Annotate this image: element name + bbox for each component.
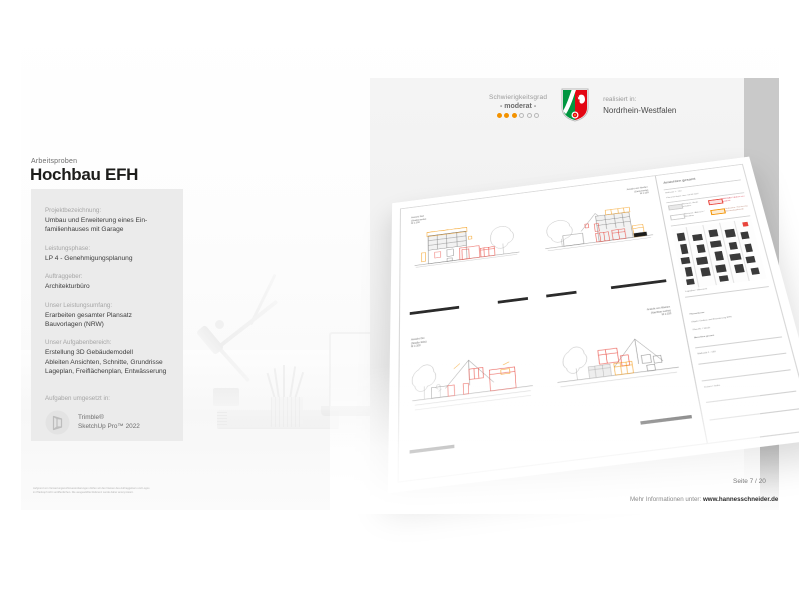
info-line: Architekturbüro — [45, 282, 169, 291]
plan-sheet-title: Ansichten gesamt — [663, 176, 696, 184]
difficulty-dot-6 — [534, 113, 539, 118]
legend-swatch-3 — [670, 214, 686, 221]
stamp-row: Datum / Index — [704, 385, 721, 390]
info-line: Lageplan, Freiflächenplan, Entwässerung — [45, 367, 169, 376]
title-bar — [497, 297, 527, 304]
elevation-quadrant-2: Ansicht von Norden (Gartenseite) M 1:100 — [528, 176, 679, 314]
difficulty-dot-3 — [512, 113, 517, 118]
nrw-coat-of-arms-icon — [561, 88, 589, 122]
elevation-quadrant-3: Ansicht Ost (Straße links) M 1:100 — [399, 315, 552, 482]
legend-swatch-2 — [708, 198, 724, 205]
slide-canvas: Schwierigkeitsgrad - moderat - — [0, 0, 799, 600]
info-heading: Auftraggeber: — [45, 272, 169, 281]
elevation-drawing-east — [408, 340, 538, 420]
page-title: Hochbau EFH — [30, 165, 138, 185]
elevation-quadrant-4: Ansicht von Westen (Nachbar rechts) M 1:… — [539, 297, 707, 463]
elevation-label: Ansicht von Westen (Nachbar rechts) M 1:… — [647, 306, 672, 319]
title-bar — [547, 291, 578, 298]
info-group-leistungsphase: Leistungsphase: LP 4 - Genehmigungsplanu… — [45, 244, 169, 263]
software-vendor: Trimble® — [78, 413, 140, 422]
difficulty-meter: Schwierigkeitsgrad - moderat - — [489, 93, 547, 118]
stamp-title: Planverfasser — [690, 312, 706, 317]
more-info: Mehr Informationen unter: www.hannesschn… — [630, 496, 778, 503]
info-group-leistungsumfang: Unser Leistungsumfang: Erarbeiten gesamt… — [45, 301, 169, 330]
title-bar — [640, 415, 692, 425]
info-line: LP 4 - Genehmigungsplanung — [45, 254, 169, 263]
difficulty-dot-4 — [519, 113, 524, 118]
plan-sheet-perspective: Ansicht Süd (Straßenseite) M 1:100 — [330, 150, 760, 510]
legend-label-3: Bestand - Abbruch / Rückbau — [684, 211, 708, 219]
legend-label-2: NEUBAU / Anbau neu geplant — [722, 196, 746, 204]
info-line: Erstellung 3D Gebäudemodell — [45, 348, 169, 357]
difficulty-label: Schwierigkeitsgrad — [489, 93, 547, 102]
elevation-label: Ansicht von Norden (Gartenseite) M 1:100 — [627, 186, 650, 197]
more-info-label: Mehr Informationen unter: — [630, 496, 701, 503]
stamp-row: Ansichten gesamt — [694, 335, 714, 341]
elevation-label: Ansicht Süd (Straßenseite) M 1:100 — [411, 215, 426, 225]
elevation-drawing-west — [549, 322, 686, 401]
info-line: Umbau und Erweiterung eines Ein- — [45, 216, 169, 225]
legend-scale: Maßstab 1 : 100 — [665, 190, 682, 195]
info-group-aufgabenbereich: Unser Aufgabenbereich: Erstellung 3D Geb… — [45, 338, 169, 376]
website-url[interactable]: www.hannesschneider.de — [703, 496, 778, 503]
stamp-row: Objekt: Umbau und Erweiterung EFH — [691, 316, 732, 324]
info-line: familienhauses mit Garage — [45, 225, 169, 234]
page-kicker: Arbeitsproben — [31, 158, 77, 165]
info-line: Erarbeiten gesamter Plansatz — [45, 311, 169, 320]
site-plan-caption: Lageplan / Übersicht — [685, 288, 708, 294]
legend-swatch-1 — [668, 204, 683, 211]
difficulty-dot-1 — [497, 113, 502, 118]
info-group-auftraggeber: Auftraggeber: Architekturbüro — [45, 272, 169, 291]
difficulty-dots — [489, 113, 547, 118]
info-line: Bauvorlagen (NRW) — [45, 320, 169, 329]
sketchup-logo-icon — [45, 410, 70, 435]
page-number: Seite 7 / 20 — [733, 478, 766, 485]
difficulty-dot-2 — [504, 113, 509, 118]
realised-label: realisiert in: — [603, 96, 636, 103]
info-heading: Projektbezeichnung: — [45, 206, 169, 215]
header-badges: Schwierigkeitsgrad - moderat - — [489, 88, 676, 122]
elevation-drawing-south — [408, 214, 526, 281]
software-name: SketchUp Pro™ 2022 — [78, 422, 140, 431]
title-bar — [410, 306, 459, 315]
project-info-panel: Projektbezeichnung: Umbau und Erweiterun… — [31, 189, 183, 441]
legend-label-1: Bestand - bleibt erhalten — [682, 201, 706, 209]
difficulty-dot-5 — [527, 113, 532, 118]
info-line: Ableiten Ansichten, Schnitte, Grundrisse — [45, 358, 169, 367]
legal-disclaimer: Aufgrund von Verwertungsrechtsvereinbaru… — [33, 487, 151, 495]
title-bar — [611, 279, 667, 289]
software-brand-row: Trimble® SketchUp Pro™ 2022 — [45, 410, 169, 435]
stamp-row: Maßstab 1 : 100 — [697, 351, 716, 357]
title-bar — [409, 445, 454, 454]
site-plan-thumbnail — [672, 219, 767, 290]
software-brand-text: Trimble® SketchUp Pro™ 2022 — [78, 413, 140, 431]
info-heading: Unser Aufgabenbereich: — [45, 338, 169, 347]
info-heading: Leistungsphase: — [45, 244, 169, 253]
elevation-quadrant-1: Ansicht Süd (Straßenseite) M 1:100 — [400, 193, 539, 333]
legend-swatch-4 — [710, 208, 726, 215]
plan-sheet: Ansicht Süd (Straßenseite) M 1:100 — [388, 157, 799, 494]
realised-state: Nordrhein-Westfalen — [603, 106, 676, 116]
pencil-cup-icon — [267, 375, 307, 425]
software-heading: Aufgaben umgesetzt in: — [45, 394, 169, 403]
elevation-drawing-north — [537, 197, 661, 264]
info-heading: Unser Leistungsumfang: — [45, 301, 169, 310]
plan-drawing-area: Ansicht Süd (Straßenseite) M 1:100 — [399, 176, 708, 481]
legend-label-4: Umbauten / Sanierung Bestandsgebäude — [725, 205, 749, 213]
realised-in-block: realisiert in: Nordrhein-Westfalen — [603, 95, 676, 116]
elevation-label: Ansicht Ost (Straße links) M 1:100 — [411, 337, 427, 349]
info-group-projektbezeichnung: Projektbezeichnung: Umbau und Erweiterun… — [45, 206, 169, 235]
stamp-row: Plan-Nr. / Inhalt: — [693, 327, 711, 332]
difficulty-value: - moderat - — [489, 102, 547, 111]
